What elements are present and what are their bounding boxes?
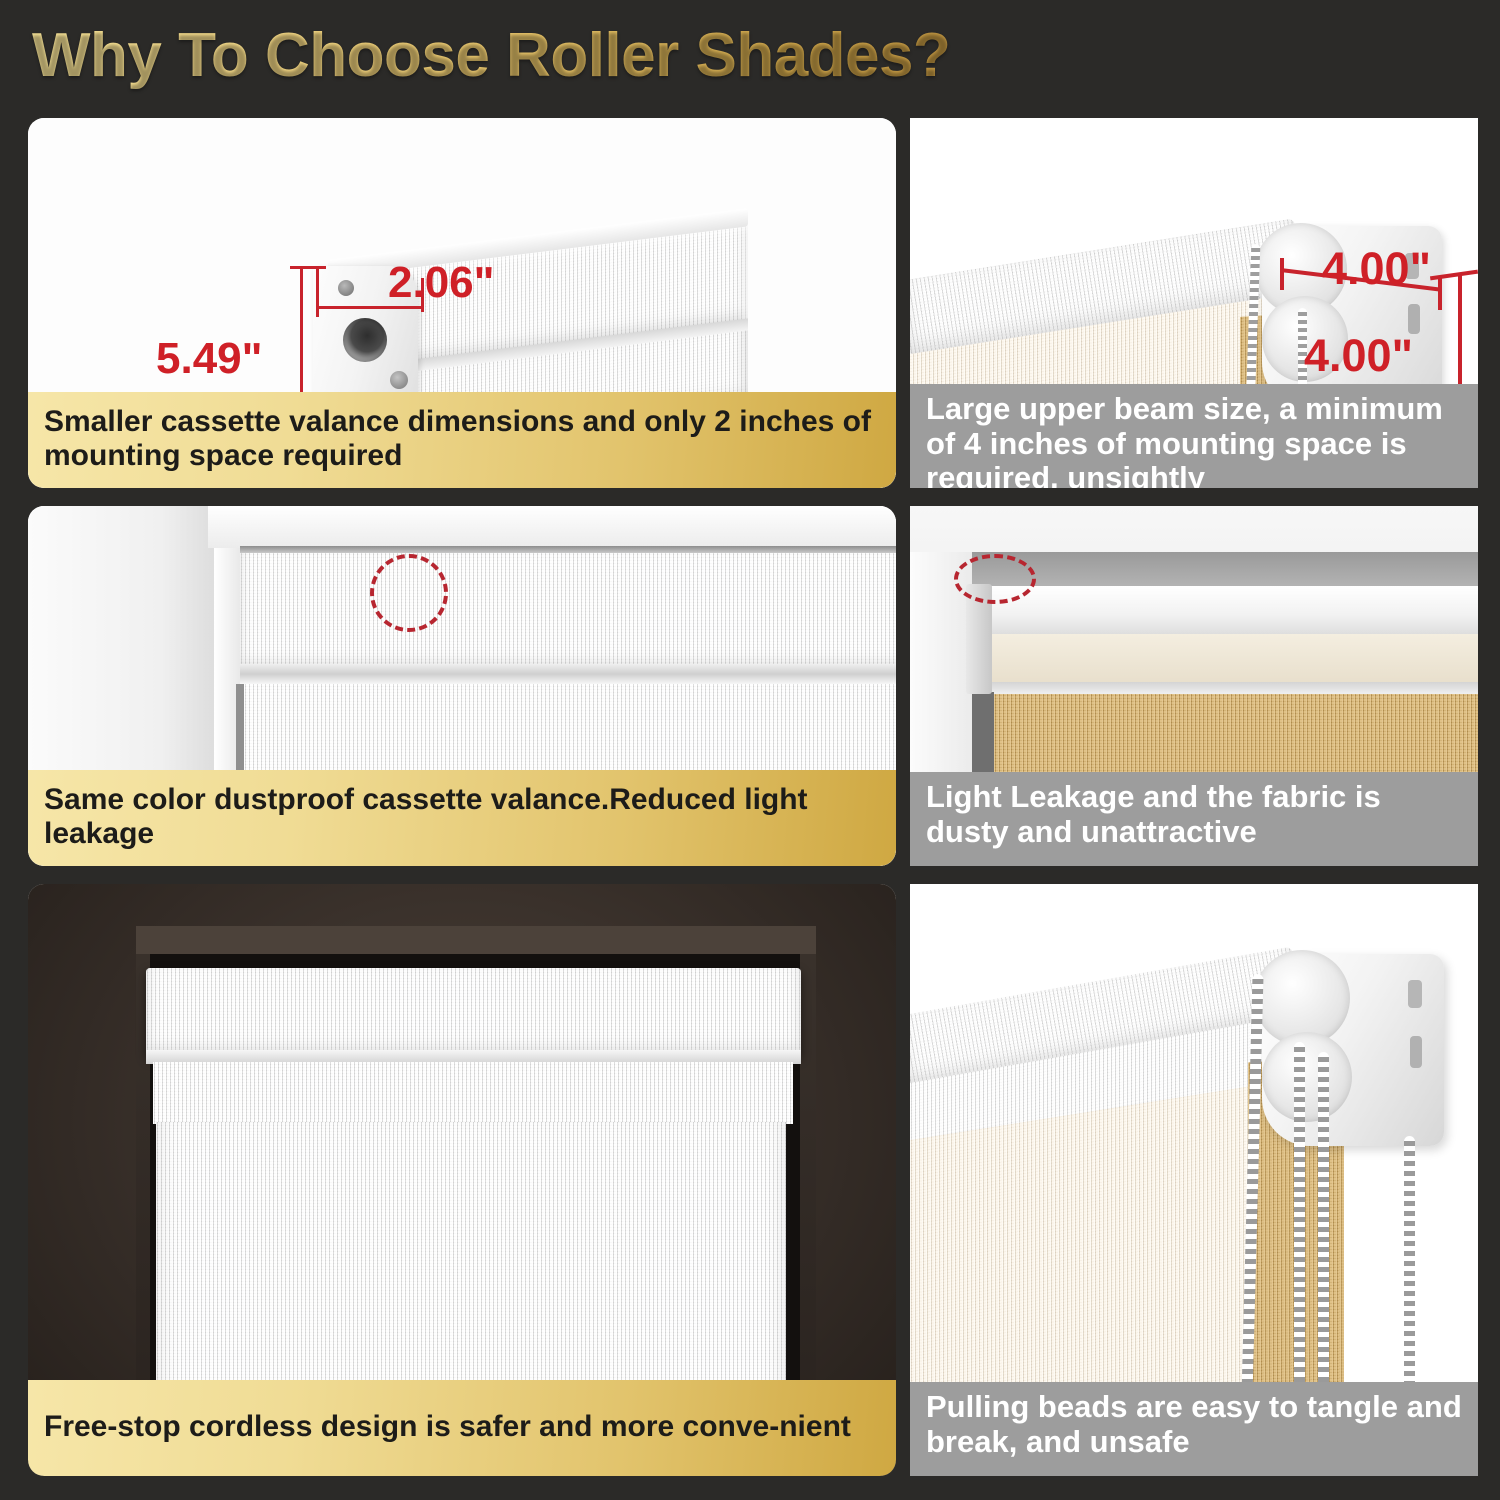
panel-1-caption: Smaller cassette valance dimensions and …	[28, 392, 896, 488]
beads-bracket-slot-upper	[1408, 980, 1422, 1008]
width-extension-top-left	[316, 268, 319, 294]
panel-2-caption: Large upper beam size, a minimum of 4 in…	[910, 384, 1478, 488]
cordless-valance-lower	[153, 1062, 793, 1124]
beam-width-label: 4.00"	[1322, 243, 1431, 295]
beam-front-cream	[972, 634, 1478, 684]
window-frame-left	[28, 506, 218, 806]
panel-cassette-dimensions: 2.06" 5.49" Smaller cassette valance dim…	[28, 118, 896, 488]
height-dim-tick-top	[290, 266, 326, 269]
cassette-valance-band	[240, 550, 896, 668]
beam-bottom-rail	[972, 682, 1478, 694]
panel-smaller-gap: smaller gap Same color dustproof cassett…	[28, 506, 896, 866]
panel-3-caption: Same color dustproof cassette valance.Re…	[28, 770, 896, 866]
panel-6-caption: Pulling beads are easy to tangle and bre…	[910, 1382, 1478, 1476]
width-dim-tick-left	[316, 291, 319, 317]
beam-height-label: 4.00"	[1304, 330, 1413, 382]
beads-bracket-slot-lower	[1410, 1036, 1422, 1068]
beam-front-white	[972, 586, 1478, 638]
panel-5-caption: Free-stop cordless design is safer and m…	[28, 1380, 896, 1476]
cordless-valance	[146, 968, 801, 1056]
large-gap-highlight-circle	[954, 554, 1036, 604]
beam-width-tick-left	[1280, 258, 1284, 290]
end-cap-screw-upper	[338, 280, 354, 296]
panel-large-gap: Large gap Light Leakage and the fabric i…	[910, 506, 1478, 866]
beam-top-surface	[972, 552, 1478, 588]
end-cap-screw-lower	[390, 371, 408, 389]
panel-4-caption: Light Leakage and the fabric is dusty an…	[910, 772, 1478, 866]
window-frame-top	[208, 506, 896, 548]
panel-cordless-design: Free-stop cordless design is safer and m…	[28, 884, 896, 1476]
beam-width-tick-right	[1438, 276, 1442, 310]
infographic-root: Why To Choose Roller Shades? 2.06"	[0, 0, 1500, 1500]
panel-large-upper-beam: 4.00" 4.00" Large upper beam size, a min…	[910, 118, 1478, 488]
height-dimension-label: 5.49"	[156, 334, 263, 384]
valance-bottom-rail	[240, 664, 896, 684]
end-cap-roller-port	[343, 318, 387, 362]
width-dimension-label: 2.06"	[388, 258, 495, 308]
page-title: Why To Choose Roller Shades?	[32, 20, 950, 91]
panel-pulling-beads: Pulling beads are easy to tangle and bre…	[910, 884, 1478, 1476]
valance-top-seam	[240, 546, 896, 553]
tight-fit-highlight-circle	[370, 554, 448, 632]
beads-bracket-lower-disc	[1262, 1032, 1352, 1122]
window-recess-top-trim	[136, 926, 816, 954]
